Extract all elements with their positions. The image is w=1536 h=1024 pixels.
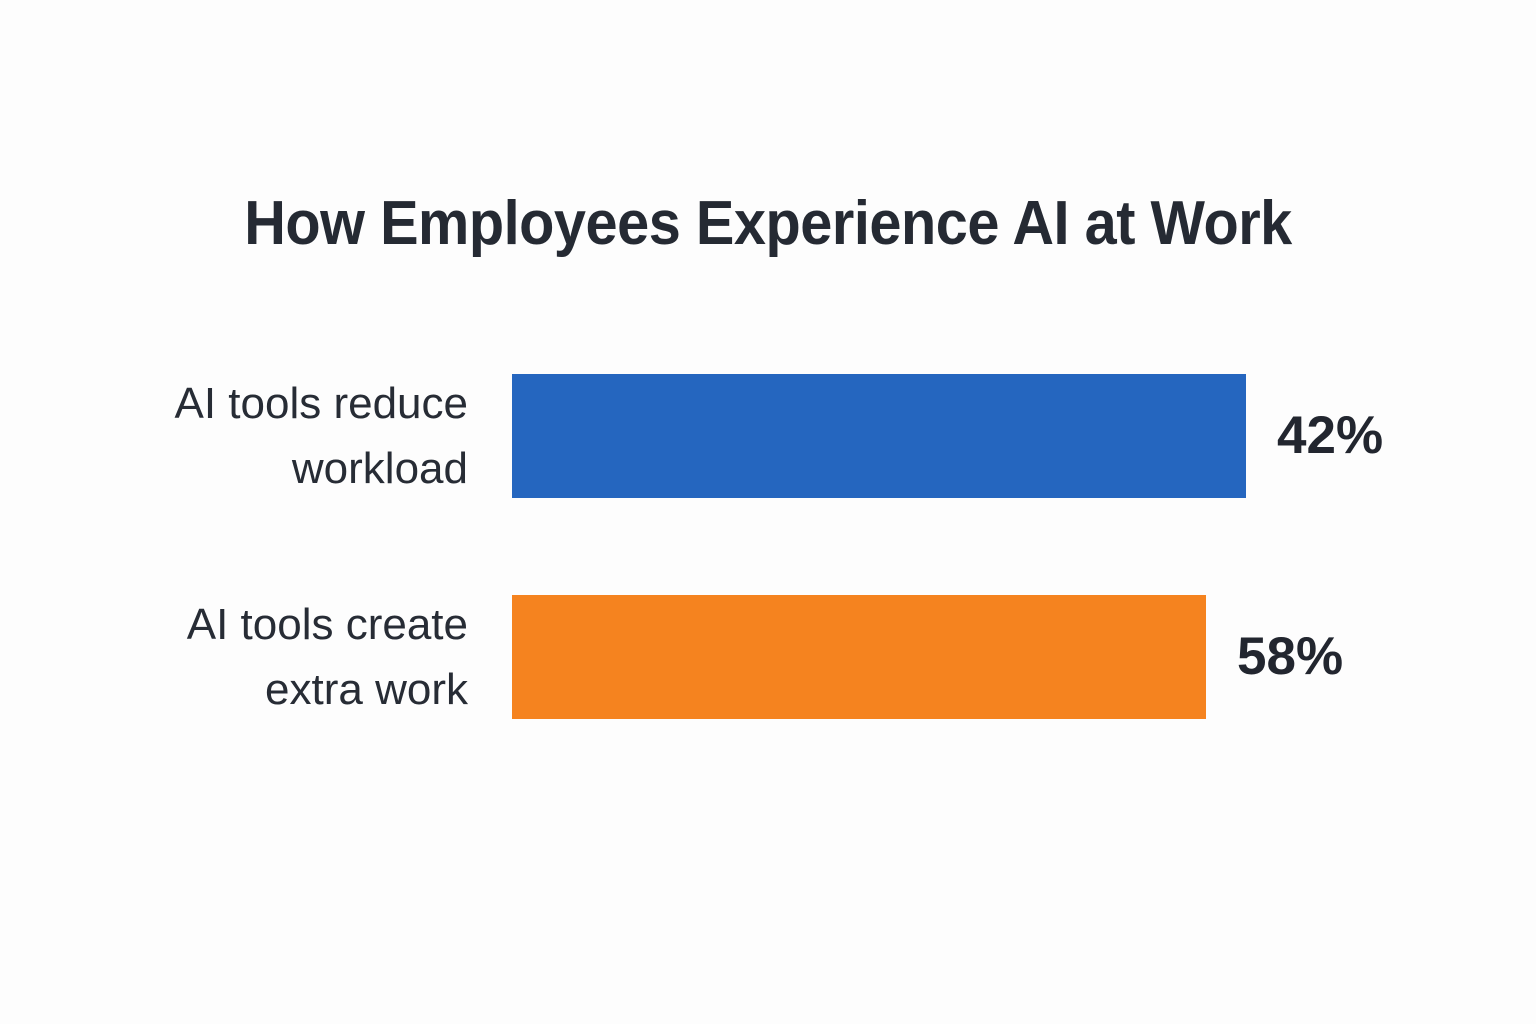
bar-category-label: AI tools reduce workload [60, 371, 468, 501]
bar-category-label-line: AI tools reduce [60, 371, 468, 436]
bar-fill[interactable] [512, 595, 1206, 719]
bar-category-label-line: AI tools create [60, 592, 468, 657]
bar-track [512, 374, 1246, 498]
bar-value-label: 42% [1277, 406, 1383, 466]
chart-title: How Employees Experience AI at Work [54, 186, 1482, 262]
bar-category-label-line: extra work [60, 657, 468, 722]
bar-value-label: 58% [1237, 627, 1343, 687]
bar-row: AI tools create extra work 58% [0, 595, 1536, 719]
bar-track [512, 595, 1206, 719]
bar-category-label-line: workload [60, 436, 468, 501]
chart-canvas: How Employees Experience AI at Work AI t… [0, 0, 1536, 1024]
bar-fill[interactable] [512, 374, 1246, 498]
bar-category-label: AI tools create extra work [60, 592, 468, 722]
plot-area: AI tools reduce workload 42% AI tools cr… [0, 346, 1536, 766]
bar-row: AI tools reduce workload 42% [0, 374, 1536, 498]
